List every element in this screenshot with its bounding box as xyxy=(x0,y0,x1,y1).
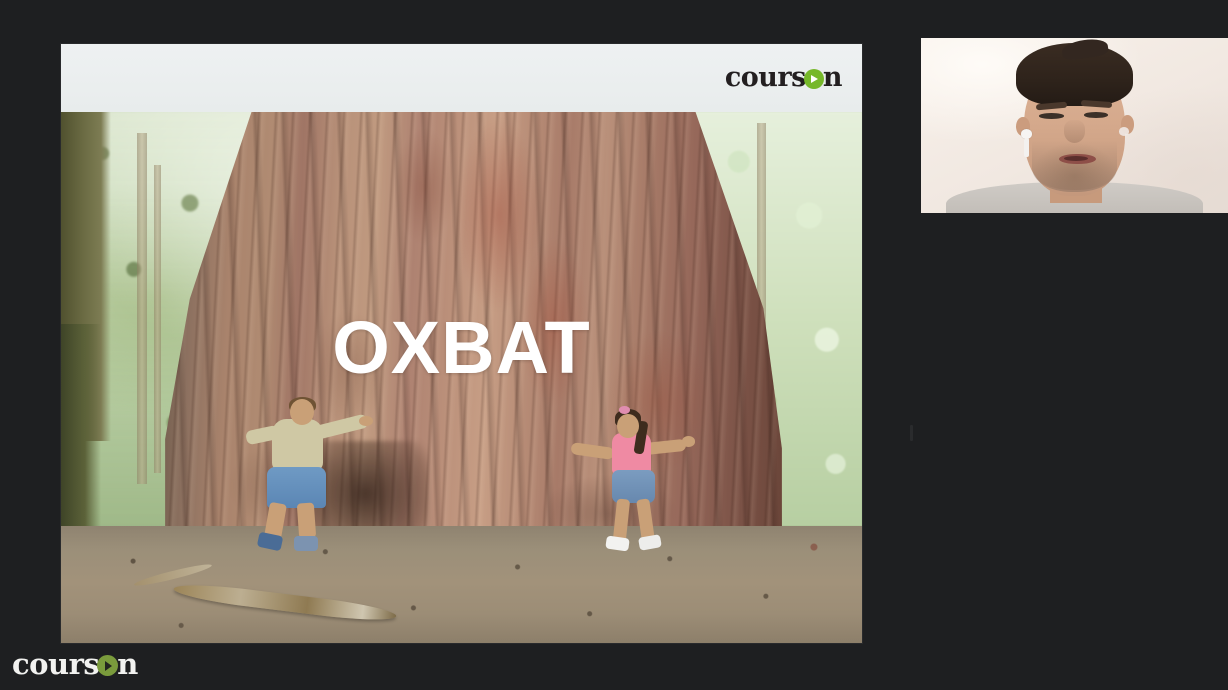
background-tree-1 xyxy=(137,133,147,483)
participant-eye-right xyxy=(1084,112,1109,118)
slide-header-band: cours n xyxy=(61,44,862,112)
cursor-artifact xyxy=(910,425,913,441)
slide-photo: OXBAT xyxy=(61,112,862,643)
app-logo-text-before: cours xyxy=(12,650,99,679)
forest-floor-debris xyxy=(61,526,862,643)
play-circle-icon xyxy=(97,655,118,676)
slide-brand-logo: cours n xyxy=(725,64,842,91)
webcam-video-tile[interactable] xyxy=(921,38,1228,213)
play-circle-icon xyxy=(804,69,824,89)
earbud-icon-right xyxy=(1119,127,1129,136)
earbud-stem-left xyxy=(1024,138,1030,157)
child-girl xyxy=(586,409,706,558)
slide-logo-text-after: n xyxy=(823,64,842,91)
app-logo-text-after: n xyxy=(117,650,138,679)
participant-nose xyxy=(1064,120,1085,143)
app-brand-logo[interactable]: cours n xyxy=(12,650,138,679)
participant-eye-left xyxy=(1039,113,1064,119)
participant-stubble xyxy=(1032,143,1118,190)
child-boy xyxy=(241,399,369,553)
left-foreground-trunk-lower xyxy=(61,324,101,536)
presentation-slide[interactable]: cours n xyxy=(61,44,862,643)
background-tree-2 xyxy=(154,165,161,473)
slide-logo-text-before: cours xyxy=(725,64,806,91)
